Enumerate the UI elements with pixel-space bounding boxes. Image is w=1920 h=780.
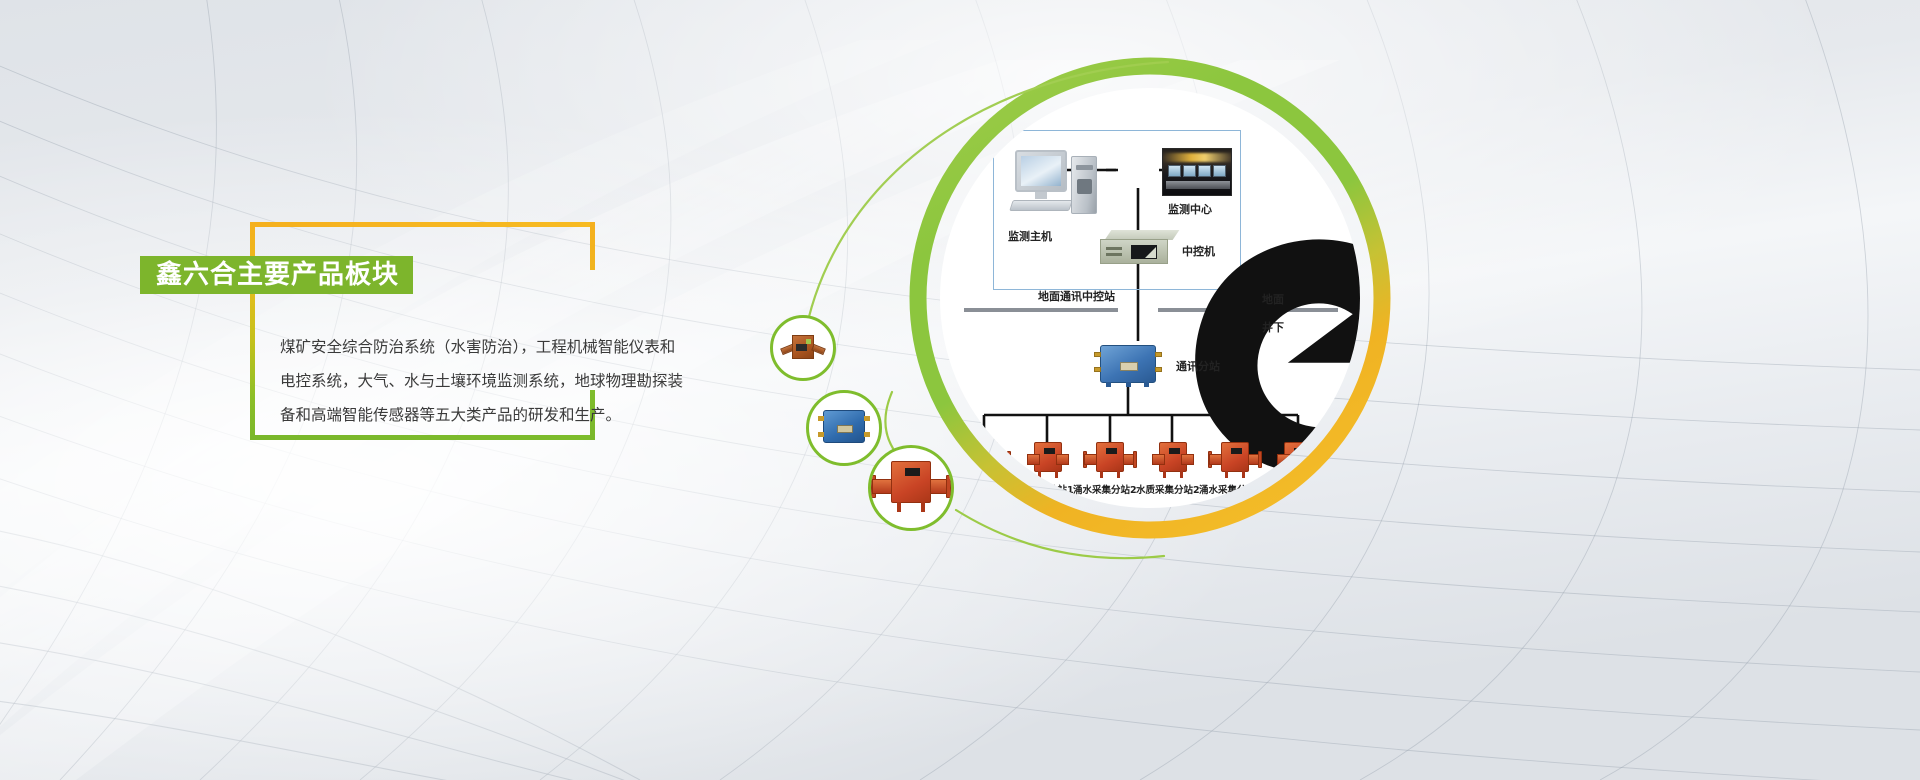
label-substation-1: 涌水采集分站1: [946, 482, 1010, 496]
substation-icon-3: [1083, 440, 1137, 480]
description-line-1: 煤矿安全综合防治系统（水害防治），工程机械智能仪表和: [280, 330, 710, 364]
label-substation-3: 涌水采集分站2: [1073, 482, 1137, 496]
substation-icon-4: [1146, 440, 1200, 480]
monitor-center-icon: [1162, 148, 1232, 196]
frame-border-left: [250, 222, 255, 440]
brown-control-box-icon: [781, 335, 825, 361]
system-schematic: 监测主机 监测中心 中控机 地面通讯中控站: [940, 88, 1360, 508]
label-monitor-center: 监测中心: [1168, 201, 1212, 217]
section-title-banner: 鑫六合主要产品板块: [140, 256, 413, 294]
red-flow-meter-icon: [871, 461, 951, 515]
label-surface-station: 地面通讯中控站: [1038, 288, 1115, 304]
frame-border-top: [250, 222, 595, 227]
description-line-3: 备和高端智能传感器等五大类产品的研发和生产。: [280, 398, 710, 432]
central-controller-icon: [1100, 230, 1176, 266]
label-comm-substation: 通讯分站: [1176, 358, 1220, 374]
page-title: 鑫六合主要产品板块: [156, 262, 399, 288]
monitor-host-icon: [1015, 150, 1103, 220]
substation-icon-5: [1208, 440, 1262, 480]
blue-junction-box-icon: [817, 408, 871, 448]
callout-bubble-brown-controller[interactable]: [770, 315, 836, 381]
product-diagram-cluster: 监测主机 监测中心 中控机 地面通讯中控站: [760, 40, 1920, 740]
comm-substation-icon: [1092, 341, 1164, 387]
label-surface-zone: 地面: [1262, 291, 1284, 307]
internet-e-icon: [1116, 148, 1160, 192]
label-monitor-host: 监测主机: [1008, 228, 1052, 244]
callout-bubble-red-flow-station[interactable]: [868, 445, 954, 531]
frame-border-right-top: [590, 222, 595, 270]
label-substation-2: 水质采集分站1: [1010, 482, 1074, 496]
label-substation-5: 涌水采集分站3: [1199, 482, 1263, 496]
label-underground-zone: 井下: [1262, 319, 1284, 335]
label-central-controller: 中控机: [1182, 243, 1215, 259]
substation-icon-1: [957, 440, 1011, 480]
label-substation-4: 水质采集分站2: [1136, 482, 1200, 496]
description-line-2: 电控系统，大气、水与土壤环境监测系统，地球物理勘探装: [280, 364, 710, 398]
substation-icon-2: [1021, 440, 1075, 480]
substation-icon-6: [1271, 440, 1325, 480]
frame-border-bottom: [250, 435, 595, 440]
callout-bubble-blue-substation[interactable]: [806, 390, 882, 466]
label-substation-6: 水质采集分站3: [1262, 482, 1326, 496]
section-description: 煤矿安全综合防治系统（水害防治），工程机械智能仪表和 电控系统，大气、水与土壤环…: [280, 330, 710, 432]
